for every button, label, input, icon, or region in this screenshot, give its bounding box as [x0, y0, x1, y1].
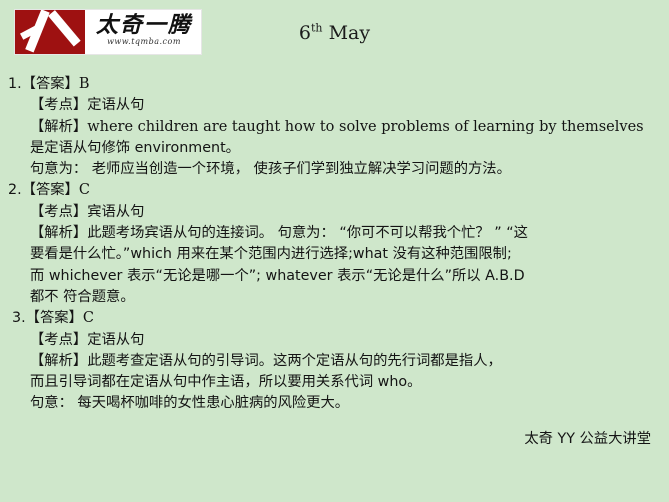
q1-number: 1. [8, 76, 22, 92]
q3-number: 3. [12, 310, 26, 326]
q2-answer-line: 2.【答案】C [8, 180, 665, 201]
q1-analysis-text-1: where children are taught how to solve p… [87, 119, 643, 135]
question-block-1: 1.【答案】B 【考点】定语从句 【解析】where children are … [8, 74, 665, 180]
q3-point-value: 定语从句 [87, 332, 144, 348]
q1-analysis-line-3: 句意为： 老师应当创造一个环境， 使孩子们学到独立解决学习问题的方法。 [8, 159, 665, 180]
footer-credit: 太奇 YY 公益大讲堂 [8, 429, 665, 450]
slide: 太奇一腾 www.tqmba.com 6th May 1.【答案】B 【考点】定… [0, 0, 669, 502]
q2-point-line: 【考点】宾语从句 [8, 202, 665, 223]
title-ordinal-suffix: th [311, 22, 323, 35]
q2-analysis-line-1: 【解析】此题考场宾语从句的连接词。 句意为： “你可不可以帮我个忙？ ” “这 [8, 223, 665, 244]
question-block-3: 3.【答案】C 【考点】定语从句 【解析】此题考查定语从句的引导词。这两个定语从… [8, 308, 665, 414]
q3-point-line: 【考点】定语从句 [8, 330, 665, 351]
q1-point-value: 定语从句 [87, 97, 144, 113]
title-day-number: 6 [299, 22, 311, 44]
question-block-2: 2.【答案】C 【考点】宾语从句 【解析】此题考场宾语从句的连接词。 句意为： … [8, 180, 665, 308]
q3-answer-value: C [83, 310, 94, 326]
title-month: May [329, 22, 371, 44]
q3-analysis-line-1: 【解析】此题考查定语从句的引导词。这两个定语从句的先行词都是指人， [8, 351, 665, 372]
q2-analysis-line-4: 都不 符合题意。 [8, 287, 665, 308]
q2-analysis-label: 【解析】 [30, 225, 87, 241]
q3-answer-line: 3.【答案】C [8, 308, 665, 329]
q3-point-label: 【考点】 [30, 332, 87, 348]
q3-analysis-label: 【解析】 [30, 353, 87, 369]
q1-analysis-line-2: 是定语从句修饰 environment。 [8, 138, 665, 159]
q1-analysis-label: 【解析】 [30, 119, 87, 135]
q3-analysis-line-3: 句意： 每天喝杯咖啡的女性患心脏病的风险更大。 [8, 393, 665, 414]
q3-answer-label: 【答案】 [26, 310, 83, 326]
q1-point-line: 【考点】定语从句 [8, 95, 665, 116]
q1-answer-line: 1.【答案】B [8, 74, 665, 95]
q2-analysis-text-1: 此题考场宾语从句的连接词。 句意为： “你可不可以帮我个忙？ ” “这 [87, 225, 528, 241]
q1-point-label: 【考点】 [30, 97, 87, 113]
q3-analysis-text-1: 此题考查定语从句的引导词。这两个定语从句的先行词都是指人， [87, 353, 502, 369]
slide-content: 1.【答案】B 【考点】定语从句 【解析】where children are … [8, 74, 665, 450]
q2-point-value: 宾语从句 [87, 204, 144, 220]
q2-analysis-line-3: 而 whichever 表示“无论是哪一个”; whatever 表示“无论是什… [8, 266, 665, 287]
q2-number: 2. [8, 182, 22, 198]
q2-answer-value: C [79, 182, 90, 198]
q2-analysis-line-2: 要看是什么忙。”which 用来在某个范围内进行选择;what 没有这种范围限制… [8, 244, 665, 265]
q1-answer-label: 【答案】 [22, 76, 79, 92]
q2-answer-label: 【答案】 [22, 182, 79, 198]
page-title: 6th May [0, 22, 669, 44]
q2-point-label: 【考点】 [30, 204, 87, 220]
q3-analysis-line-2: 而且引导词都在定语从句中作主语，所以要用关系代词 who。 [8, 372, 665, 393]
q1-analysis-line-1: 【解析】where children are taught how to sol… [8, 117, 665, 138]
q1-answer-value: B [79, 76, 90, 92]
slide-header: 太奇一腾 www.tqmba.com 6th May [0, 0, 669, 62]
